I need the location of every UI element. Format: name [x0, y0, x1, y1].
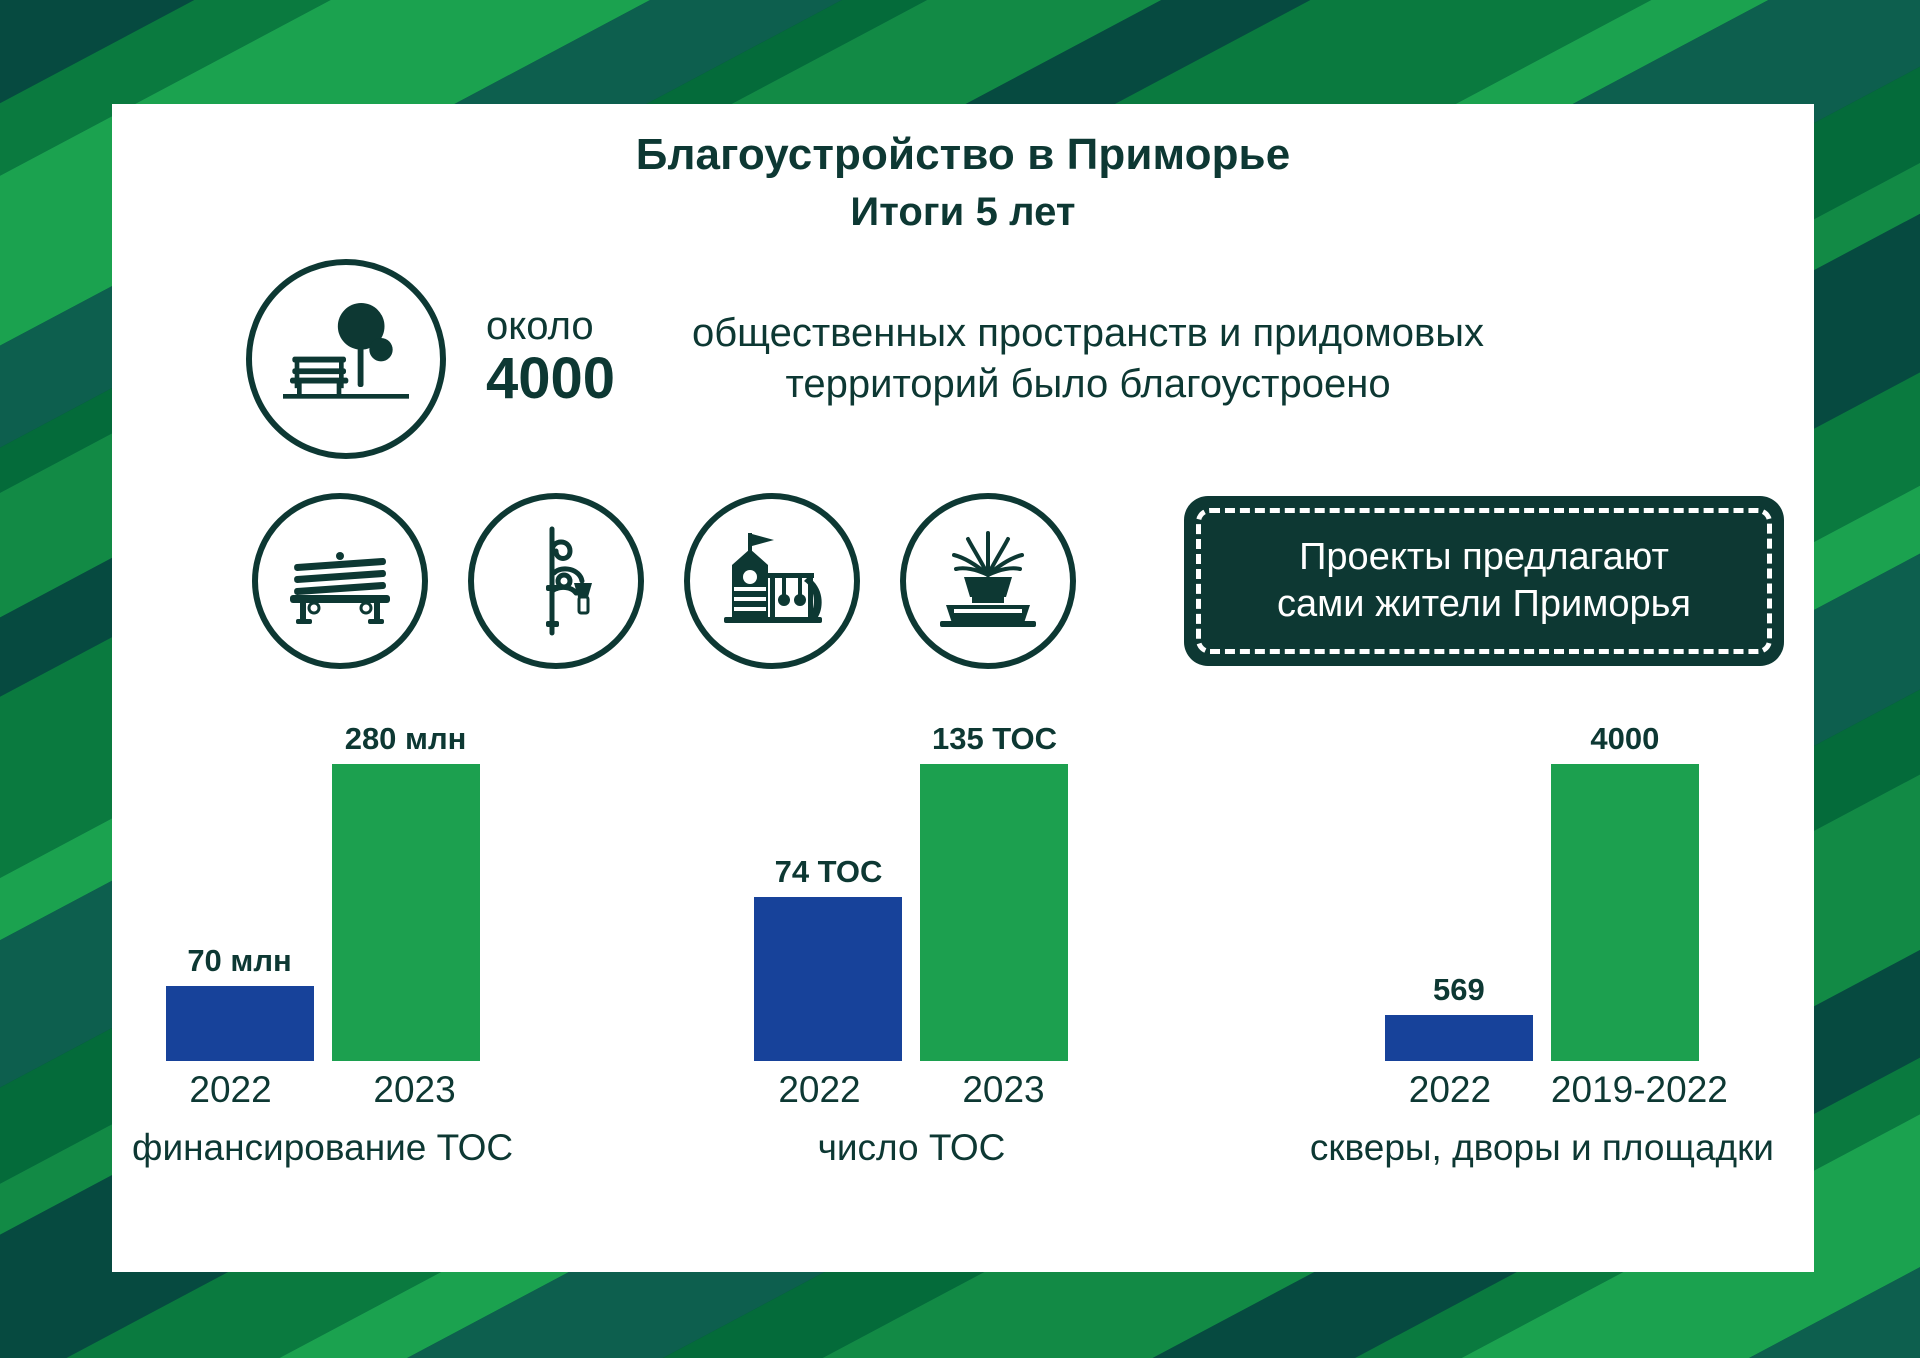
chart-caption: скверы, дворы и площадки	[1310, 1127, 1774, 1169]
hero-stat: около 4000	[486, 306, 672, 412]
hero-section: около 4000 общественных пространств и пр…	[112, 259, 1814, 459]
bar-value-label: 569	[1433, 972, 1485, 1008]
hero-description-line2: территорий было благоустроено	[692, 359, 1484, 410]
bars-container: 5694000	[1376, 721, 1708, 1061]
callout-line2: сами жители Приморья	[1277, 581, 1691, 629]
bar-value-label: 74 ТОС	[775, 854, 883, 890]
x-axis-label: 2022	[1367, 1069, 1533, 1111]
x-axis-labels: 20222023	[727, 1069, 1095, 1111]
x-axis-label: 2023	[920, 1069, 1086, 1111]
x-axis-labels: 20222019-2022	[1358, 1069, 1726, 1111]
bar	[166, 986, 314, 1061]
x-axis-label: 2022	[148, 1069, 314, 1111]
bar	[1385, 1015, 1533, 1061]
bars-container: 74 ТОС135 ТОС	[745, 721, 1077, 1061]
bars-container: 70 млн280 млн	[157, 721, 489, 1061]
bar-charts-section: 70 млн280 млн20222023финансирование ТОС7…	[112, 721, 1814, 1169]
hero-approx-label: около	[486, 306, 672, 347]
content-card: Благоустройство в Приморье Итоги 5 лет	[112, 104, 1814, 1272]
bar-item: 135 ТОС	[920, 721, 1068, 1061]
x-axis-label: 2023	[332, 1069, 498, 1111]
bar-item: 569	[1385, 721, 1533, 1061]
callout-line1: Проекты предлагают	[1277, 534, 1691, 582]
chart-caption: финансирование ТОС	[132, 1127, 513, 1169]
page-title: Благоустройство в Приморье	[112, 130, 1814, 180]
callout-box: Проекты предлагают сами жители Приморья	[1184, 496, 1784, 666]
bar-value-label: 280 млн	[345, 721, 467, 757]
fountain-icon	[900, 493, 1076, 669]
bar	[1551, 764, 1699, 1061]
park-bench-tree-icon	[246, 259, 446, 459]
x-axis-label: 2022	[736, 1069, 902, 1111]
playground-icon	[684, 493, 860, 669]
bar-item: 280 млн	[332, 721, 480, 1061]
bar	[332, 764, 480, 1061]
bar-value-label: 4000	[1590, 721, 1659, 757]
hero-description: общественных пространств и придомовых те…	[692, 308, 1484, 410]
bench-icon	[252, 493, 428, 669]
bar-item: 74 ТОС	[754, 721, 902, 1061]
bar-item: 70 млн	[166, 721, 314, 1061]
chart-caption: число ТОС	[818, 1127, 1006, 1169]
bar-value-label: 70 млн	[187, 943, 291, 979]
chart-group-1: 74 ТОС135 ТОС20222023число ТОС	[727, 721, 1095, 1169]
bar-value-label: 135 ТОС	[932, 721, 1057, 757]
x-axis-label: 2019-2022	[1551, 1069, 1717, 1111]
hero-approx-number: 4000	[486, 347, 672, 412]
page-subtitle: Итоги 5 лет	[112, 190, 1814, 235]
street-lamp-icon	[468, 493, 644, 669]
chart-group-2: 569400020222019-2022скверы, дворы и площ…	[1310, 721, 1774, 1169]
bar	[754, 897, 902, 1061]
hero-description-line1: общественных пространств и придомовых	[692, 308, 1484, 359]
chart-group-0: 70 млн280 млн20222023финансирование ТОС	[132, 721, 513, 1169]
bar-item: 4000	[1551, 721, 1699, 1061]
amenity-icons-row: Проекты предлагают сами жители Приморья	[112, 493, 1814, 669]
infographic-poster: Благоустройство в Приморье Итоги 5 лет	[0, 0, 1920, 1358]
x-axis-labels: 20222023	[139, 1069, 507, 1111]
bar	[920, 764, 1068, 1061]
